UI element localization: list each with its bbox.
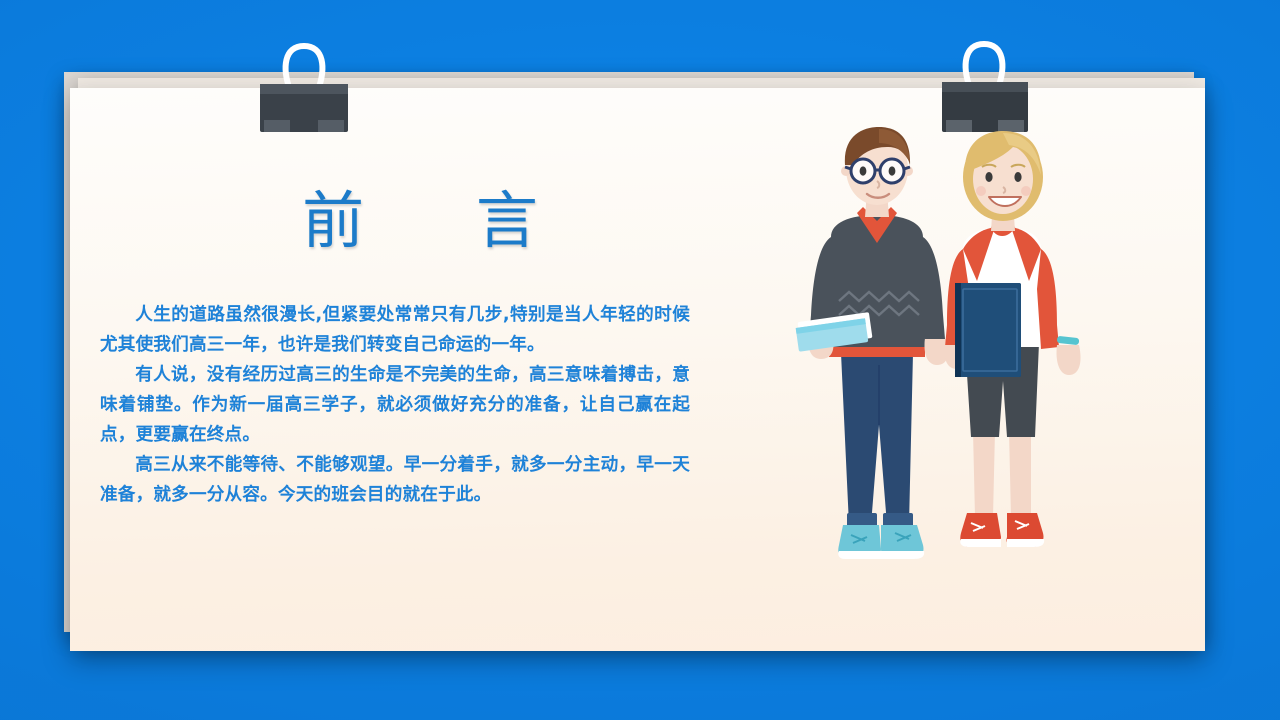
paragraph-1: 人生的道路虽然很漫长,但紧要处常常只有几步,特别是当人年轻的时候尤其使我们高三一… <box>100 300 690 360</box>
boy-figure <box>796 127 949 559</box>
body-text: 人生的道路虽然很漫长,但紧要处常常只有几步,特别是当人年轻的时候尤其使我们高三一… <box>100 300 690 510</box>
paragraph-2: 有人说，没有经历过高三的生命是不完美的生命，高三意味着搏击，意味着铺垫。作为新一… <box>100 360 690 450</box>
paragraph-3: 高三从来不能等待、不能够观望。早一分着手，就多一分主动，早一天准备，就多一分从容… <box>100 450 690 510</box>
two-students-illustration <box>795 125 1095 595</box>
page-title: 前 言 <box>160 170 680 260</box>
binder-clip-left <box>254 34 354 144</box>
slide-canvas: 前 言 人生的道路虽然很漫长,但紧要处常常只有几步,特别是当人年轻的时候尤其使我… <box>0 0 1280 720</box>
girl-figure <box>945 131 1081 547</box>
girl-book <box>955 283 1021 377</box>
